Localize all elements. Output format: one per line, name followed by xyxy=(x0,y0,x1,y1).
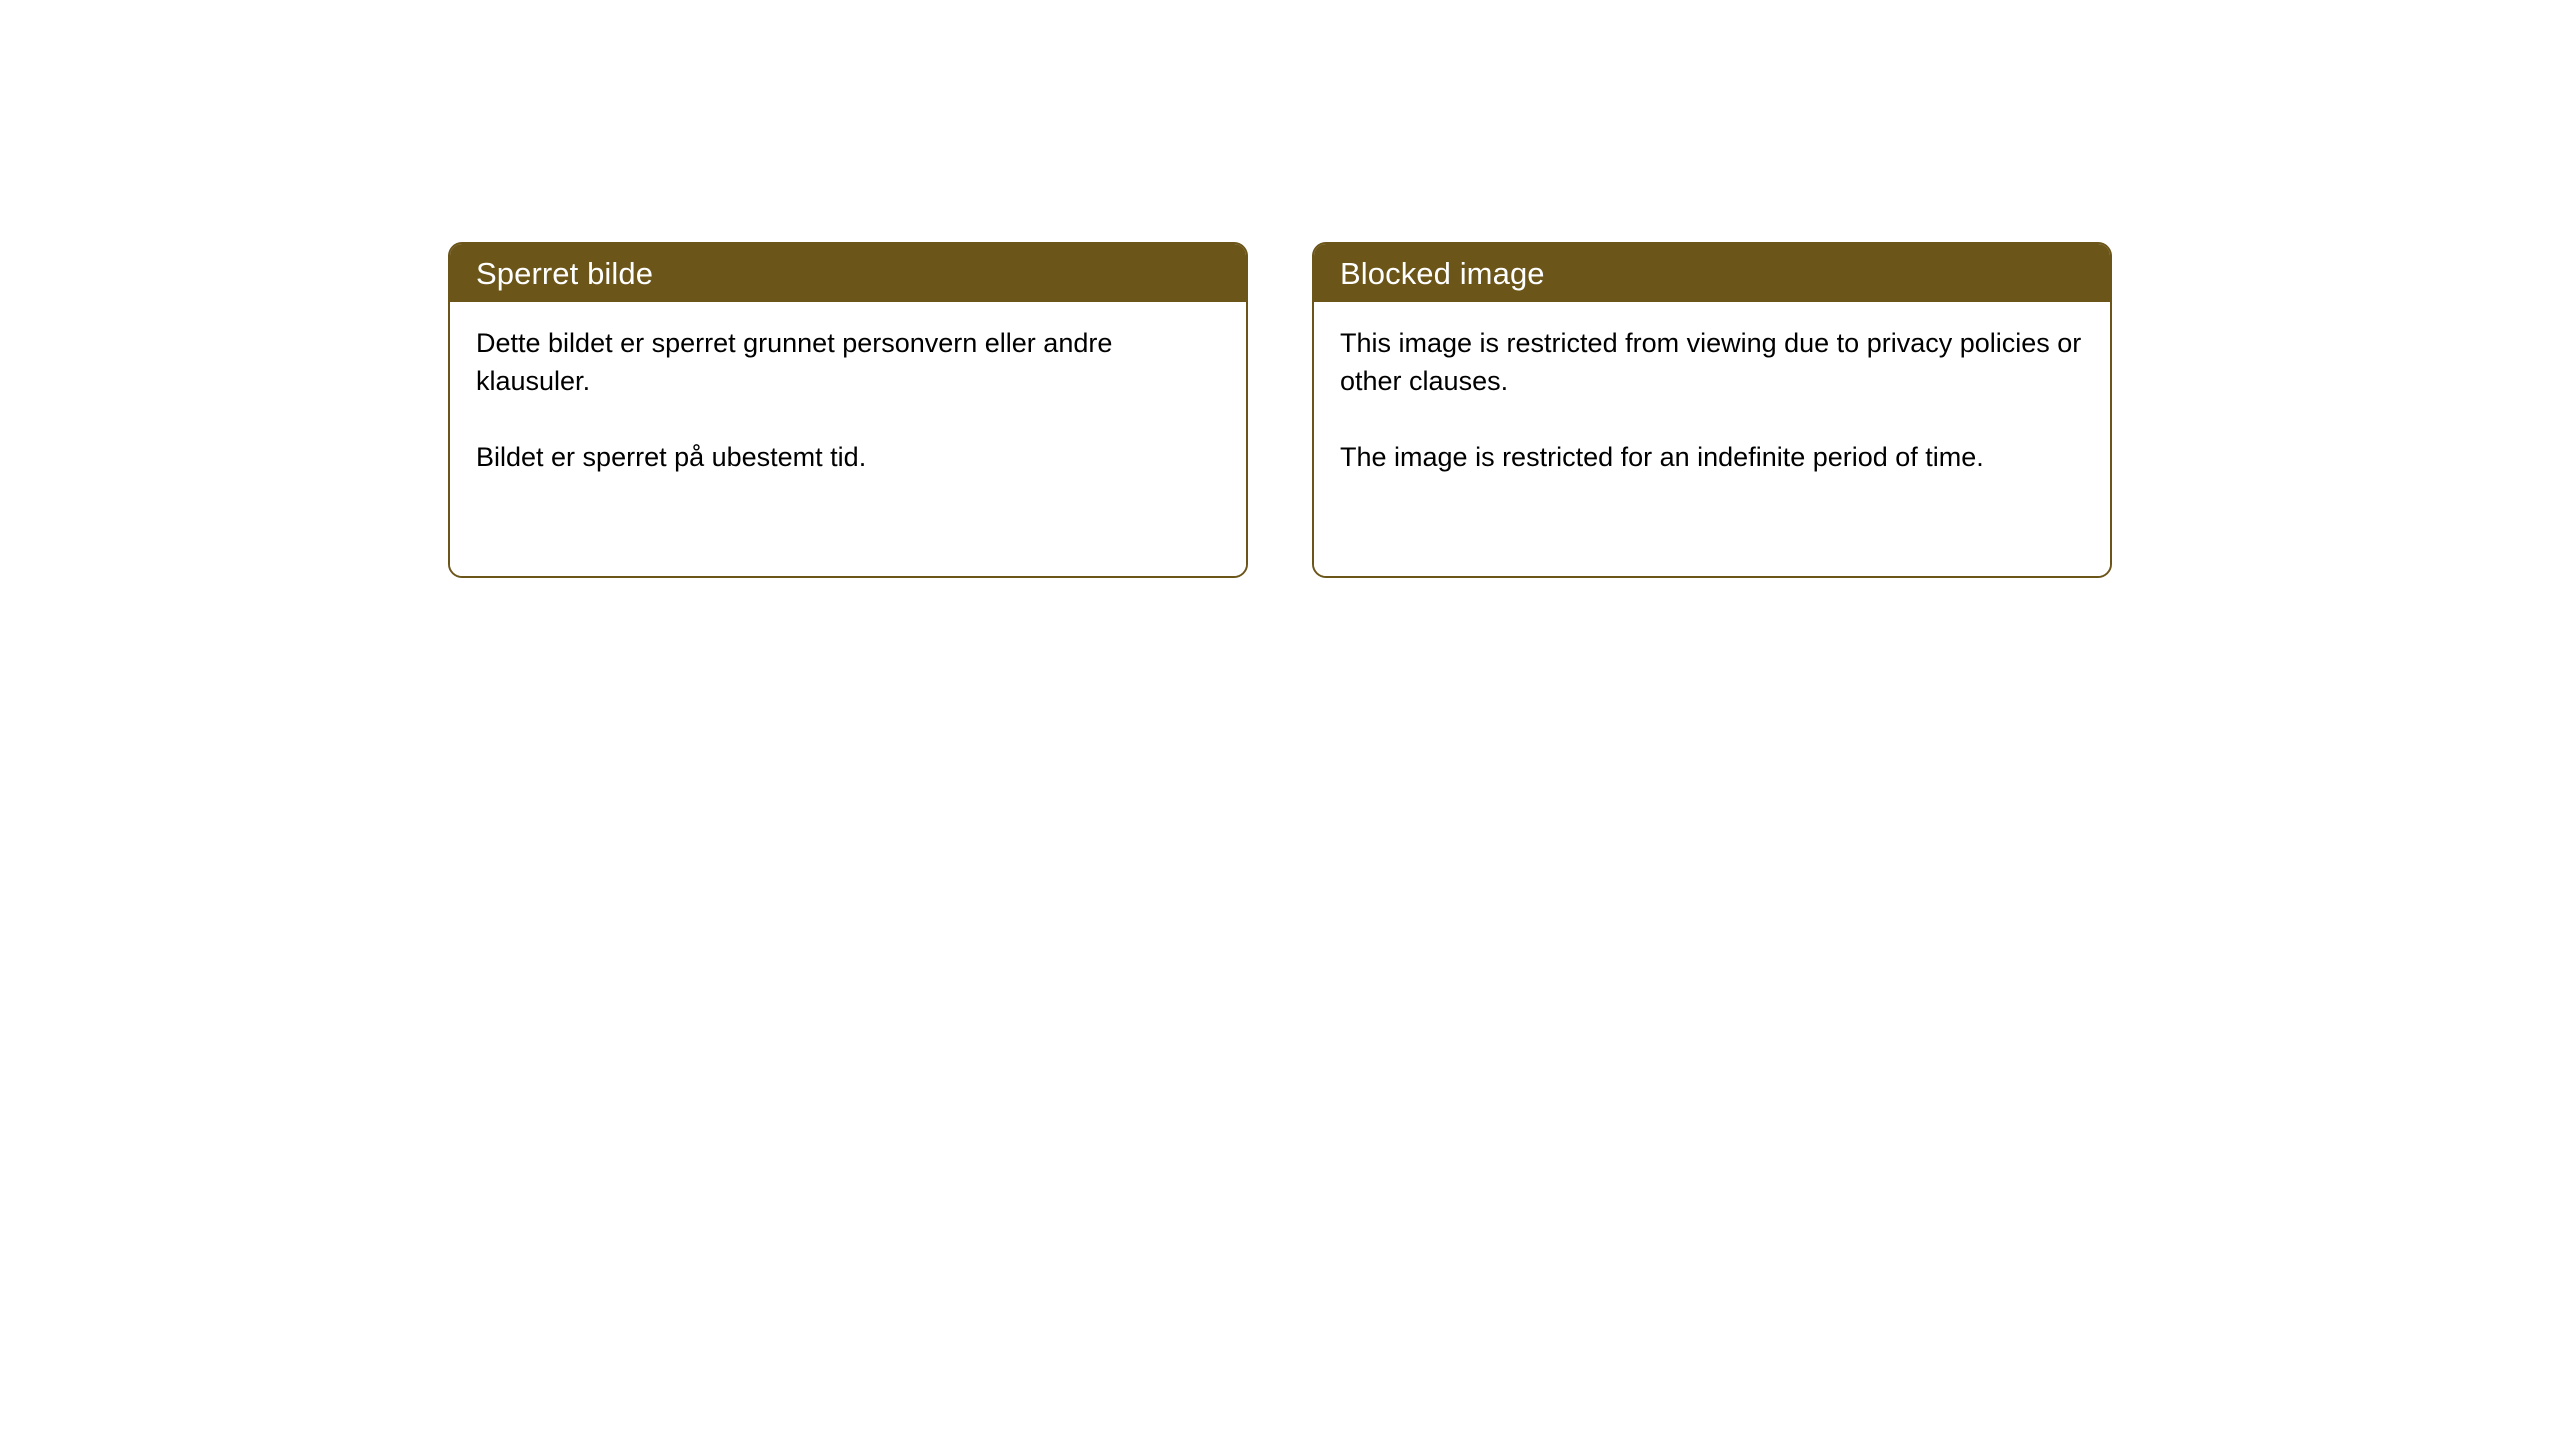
blocked-image-notice-area: Sperret bilde Dette bildet er sperret gr… xyxy=(448,242,2118,582)
card-title-norwegian: Sperret bilde xyxy=(476,258,653,289)
card-paragraph-norwegian-1: Dette bildet er sperret grunnet personve… xyxy=(476,324,1220,400)
card-title-english: Blocked image xyxy=(1340,258,1545,289)
card-body-english: This image is restricted from viewing du… xyxy=(1314,302,2110,576)
card-paragraph-english-1: This image is restricted from viewing du… xyxy=(1340,324,2084,400)
blocked-image-card-english: Blocked image This image is restricted f… xyxy=(1312,242,2112,578)
card-paragraph-norwegian-2: Bildet er sperret på ubestemt tid. xyxy=(476,438,1220,476)
card-header-norwegian: Sperret bilde xyxy=(450,244,1246,302)
card-body-norwegian: Dette bildet er sperret grunnet personve… xyxy=(450,302,1246,576)
card-paragraph-english-2: The image is restricted for an indefinit… xyxy=(1340,438,2084,476)
card-header-english: Blocked image xyxy=(1314,244,2110,302)
blocked-image-card-norwegian: Sperret bilde Dette bildet er sperret gr… xyxy=(448,242,1248,578)
